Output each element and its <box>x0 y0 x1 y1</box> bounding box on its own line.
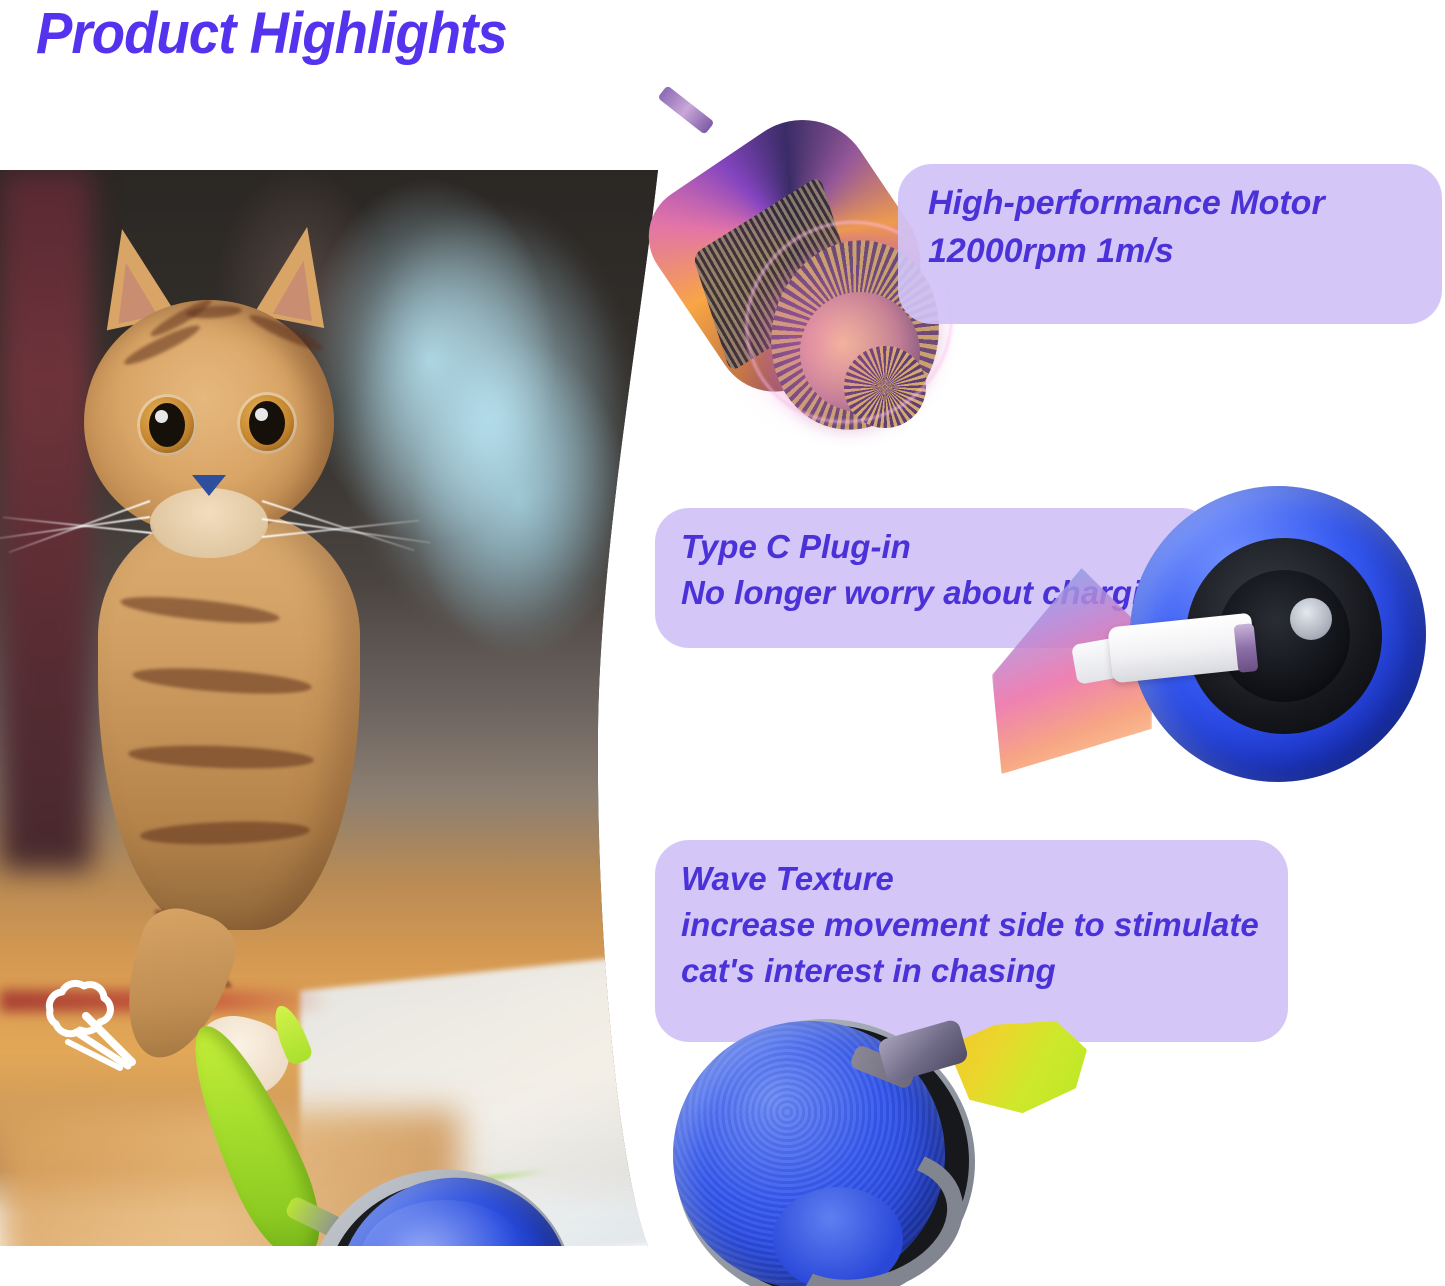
callout-wave-detail-line-2: cat's interest in chasing <box>681 948 1288 994</box>
cat-pupil-left <box>149 403 185 447</box>
cat-body <box>98 510 360 930</box>
photo-background <box>0 170 672 1246</box>
callout-wave-detail-line-1: increase movement side to stimulate <box>681 902 1288 948</box>
callout-wave-heading: Wave Texture <box>681 856 1288 902</box>
callout-motor-heading: High-performance Motor <box>928 180 1442 228</box>
blue-ball-with-usb-c-cable-image <box>990 478 1360 808</box>
callout-high-performance-motor: High-performance Motor 12000rpm 1m/s <box>898 164 1442 324</box>
cat-pupil-right <box>249 401 285 445</box>
cat-eye-glint-left <box>155 410 168 423</box>
cat-nose <box>192 475 226 496</box>
page-title: Product Highlights <box>36 2 507 66</box>
motor-shaft <box>657 85 714 135</box>
product-highlights-page: Product Highlights <box>0 0 1445 1286</box>
background-window-haze <box>350 170 670 810</box>
callout-motor-detail: 12000rpm 1m/s <box>928 228 1442 276</box>
cat-photo <box>0 170 672 1246</box>
dust-puff-motion-icon <box>28 976 138 1072</box>
blue-textured-ball-with-feather-image <box>655 1005 1075 1286</box>
cat-muzzle <box>150 488 268 558</box>
yellow-green-feather <box>947 1021 1087 1117</box>
cat-eye-glint-right <box>255 408 268 421</box>
motor-glow <box>718 246 918 436</box>
charging-port-indicator <box>1290 598 1332 640</box>
